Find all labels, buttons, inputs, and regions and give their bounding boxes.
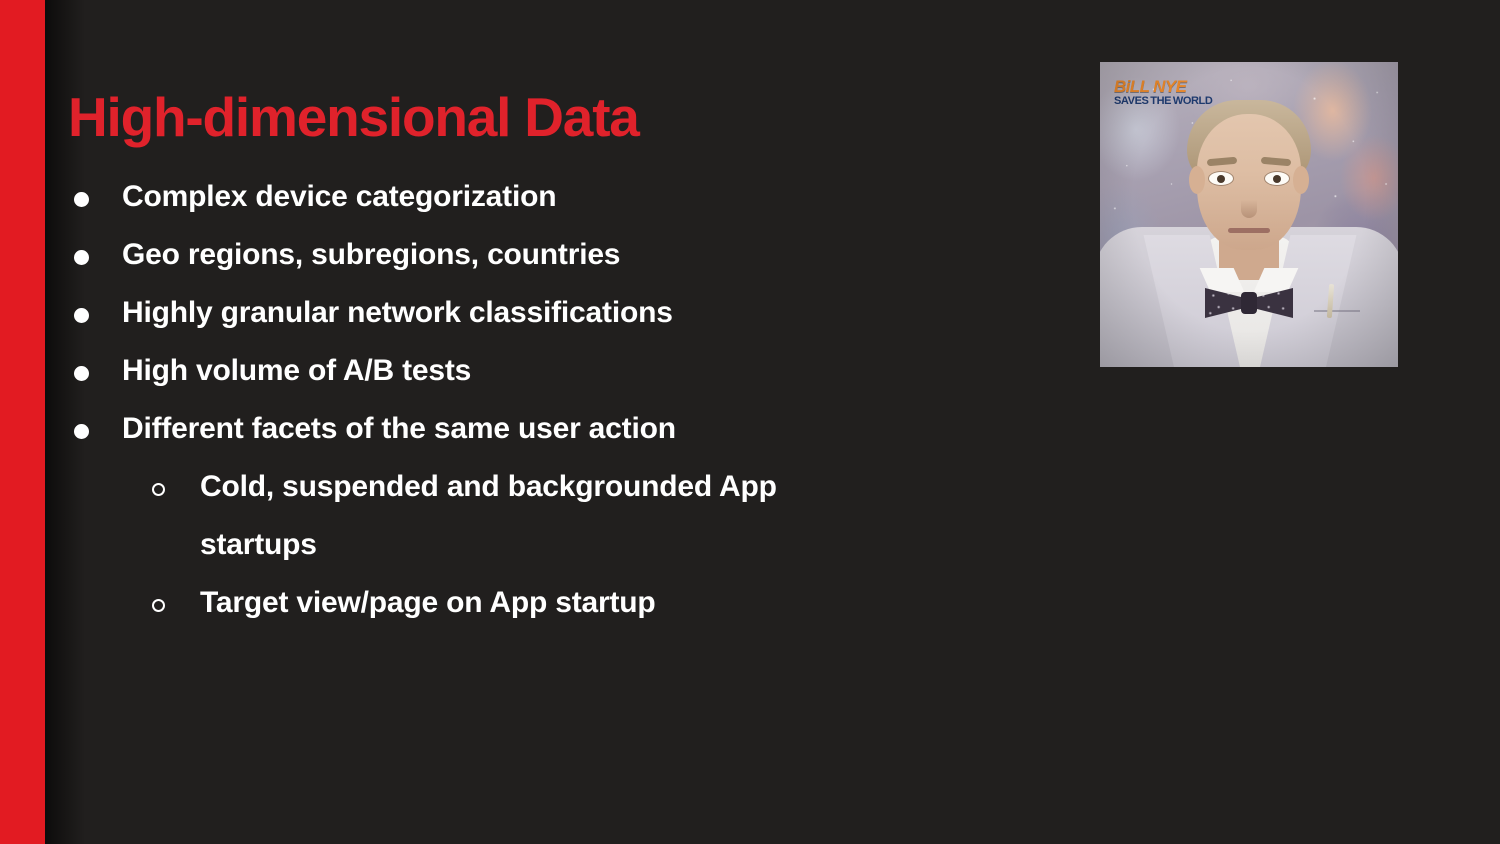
filled-disc-bullet-icon	[68, 284, 122, 342]
list-item-label: Highly granular network classifications	[122, 284, 673, 342]
hollow-circle-bullet-icon	[146, 458, 200, 516]
sub-list-item: Target view/page on App startup	[68, 574, 998, 632]
left-accent-bar	[0, 0, 45, 844]
page-title: High-dimensional Data	[68, 89, 1028, 147]
filled-disc-bullet-icon	[68, 342, 122, 400]
coat-pocket	[1314, 310, 1360, 348]
list-item-label: Different facets of the same user action	[122, 400, 676, 458]
show-logo: BiLL NYE SAVES THE WORLD	[1114, 78, 1212, 107]
filled-disc-bullet-icon	[68, 168, 122, 226]
filled-disc-bullet-icon	[68, 226, 122, 284]
list-item: Geo regions, subregions, countries	[68, 226, 998, 284]
list-item-label: Complex device categorization	[122, 168, 556, 226]
slide: High-dimensional Data Complex device cat…	[0, 0, 1500, 844]
show-logo-title: BiLL NYE	[1114, 78, 1212, 95]
sub-list-item-label: Target view/page on App startup	[200, 574, 656, 632]
mouth	[1228, 228, 1270, 233]
list-item: Different facets of the same user action	[68, 400, 998, 458]
nose	[1241, 188, 1257, 218]
bill-nye-photo: BiLL NYE SAVES THE WORLD	[1100, 62, 1398, 367]
filled-disc-bullet-icon	[68, 400, 122, 458]
list-item-label: High volume of A/B tests	[122, 342, 471, 400]
bullet-list: Complex device categorization Geo region…	[68, 168, 998, 632]
hollow-circle-bullet-icon	[146, 574, 200, 632]
bill-nye-figure	[1100, 62, 1398, 367]
list-item-label: Geo regions, subregions, countries	[122, 226, 620, 284]
bow-tie	[1205, 286, 1293, 320]
sub-list-item: Cold, suspended and backgrounded App sta…	[68, 458, 998, 574]
pupil-left	[1217, 175, 1225, 183]
ear-right	[1293, 166, 1309, 194]
sub-list-item-label: Cold, suspended and backgrounded App sta…	[200, 458, 890, 574]
pupil-right	[1273, 175, 1281, 183]
list-item: Complex device categorization	[68, 168, 998, 226]
list-item: High volume of A/B tests	[68, 342, 998, 400]
list-item: Highly granular network classifications	[68, 284, 998, 342]
show-logo-subtitle: SAVES THE WORLD	[1114, 96, 1212, 107]
ear-left	[1189, 166, 1205, 194]
